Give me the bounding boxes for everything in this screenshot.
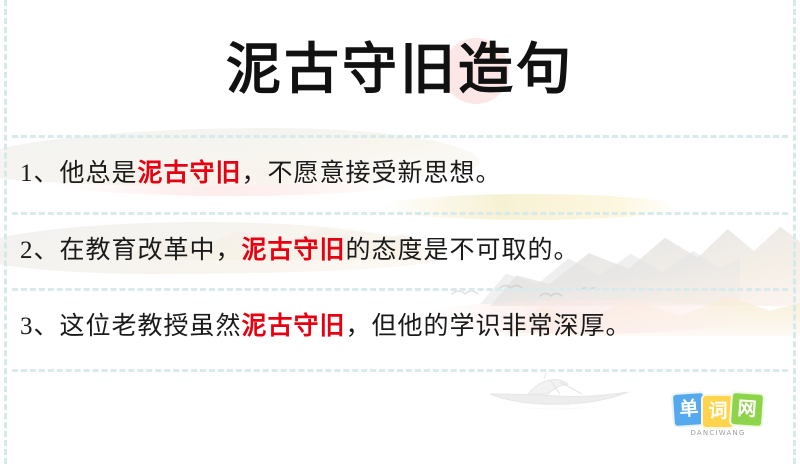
logo-tiles: 单 词 网	[672, 394, 764, 427]
sentence-text-after: ，但他的学识非常深厚。	[346, 309, 632, 345]
sentence-text-before: 这位老教授虽然	[60, 309, 242, 345]
sentence-index: 2、	[20, 233, 60, 269]
page-root: 泥古守旧造句 1、 他总是 泥古守旧 ，不愿意接受新思想。 2、 在教育改革中，…	[0, 0, 800, 464]
sentence-keyword: 泥古守旧	[242, 309, 346, 345]
logo-subtitle: DANCIWANG	[672, 429, 764, 437]
sentence-index: 1、	[20, 156, 60, 192]
logo-tile-char: 词	[708, 402, 727, 421]
divider-4	[12, 369, 788, 372]
sentence-text-after: 的态度是不可取的。	[346, 233, 580, 269]
sentence-item: 3、 这位老教授虽然 泥古守旧 ，但他的学识非常深厚。	[20, 288, 780, 365]
sentence-text-before: 在教育改革中，	[60, 233, 242, 269]
sentence-item: 2、 在教育改革中， 泥古守旧 的态度是不可取的。	[20, 212, 780, 289]
sentence-item: 1、 他总是 泥古守旧 ，不愿意接受新思想。	[20, 135, 780, 212]
sentence-index: 3、	[20, 309, 60, 345]
boat-icon	[484, 372, 634, 412]
sentence-text-before: 他总是	[60, 156, 138, 192]
page-title: 泥古守旧造句	[0, 36, 800, 102]
sentence-text-after: ，不愿意接受新思想。	[242, 156, 502, 192]
logo-tile-char: 网	[737, 399, 757, 419]
sentence-keyword: 泥古守旧	[138, 156, 242, 192]
logo-tile-1: 单	[673, 393, 705, 426]
logo-tile-2: 词	[703, 396, 733, 427]
site-logo[interactable]: 单 词 网 DANCIWANG	[672, 394, 764, 442]
logo-tile-3: 网	[731, 393, 763, 426]
logo-tile-char: 单	[679, 399, 699, 419]
sentence-keyword: 泥古守旧	[242, 233, 346, 269]
